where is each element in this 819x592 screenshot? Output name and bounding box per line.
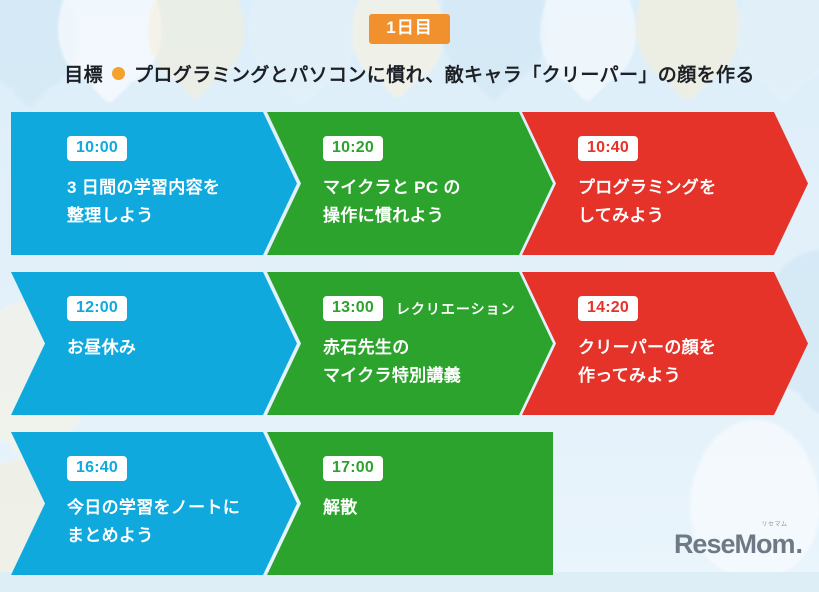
goal-line: 目標 プログラミングとパソコンに慣れ、敵キャラ「クリーパー」の顔を作る (0, 60, 819, 87)
schedule-item-title: 解散 (323, 494, 553, 522)
schedule-item-title: 3 日間の学習内容を 整理しよう (67, 174, 297, 229)
schedule-item-1040[interactable]: 10:40プログラミングを してみよう (522, 112, 808, 255)
schedule-item-time-row: 10:00 (67, 136, 297, 161)
schedule-item-time: 10:20 (323, 136, 383, 161)
goal-text: プログラミングとパソコンに慣れ、敵キャラ「クリーパー」の顔を作る (134, 60, 755, 87)
schedule-item-time: 13:00 (323, 296, 383, 321)
schedule-item-1700[interactable]: 17:00解散 (267, 432, 553, 575)
schedule-item-1420[interactable]: 14:20クリーパーの顔を 作ってみよう (522, 272, 808, 415)
header: 1日目 目標 プログラミングとパソコンに慣れ、敵キャラ「クリーパー」の顔を作る (0, 0, 819, 87)
schedule-item-title: 赤石先生の マイクラ特別講義 (323, 334, 553, 389)
orange-dot-icon (112, 67, 125, 80)
schedule-item-time: 17:00 (323, 456, 383, 481)
schedule-item-time-row: 17:00 (323, 456, 553, 481)
schedule-timeline: 10:003 日間の学習内容を 整理しよう10:20マイクラと PC の 操作に… (11, 112, 808, 592)
schedule-item-1200[interactable]: 12:00お昼休み (11, 272, 297, 415)
schedule-item-time: 12:00 (67, 296, 127, 321)
schedule-item-time-row: 14:20 (578, 296, 808, 321)
schedule-item-time-row: 16:40 (67, 456, 297, 481)
logo-period: . (795, 531, 803, 558)
schedule-item-time-row: 13:00レクリエーション (323, 296, 553, 321)
schedule-item-title: マイクラと PC の 操作に慣れよう (323, 174, 553, 229)
schedule-item-time: 10:00 (67, 136, 127, 161)
schedule-item-time: 16:40 (67, 456, 127, 481)
schedule-item-title: プログラミングを してみよう (578, 174, 808, 229)
goal-label: 目標 (64, 60, 103, 87)
schedule-row: 12:00お昼休み13:00レクリエーション赤石先生の マイクラ特別講義14:2… (11, 272, 808, 415)
schedule-item-1640[interactable]: 16:40今日の学習をノートに まとめよう (11, 432, 297, 575)
schedule-item-title: 今日の学習をノートに まとめよう (67, 494, 297, 549)
schedule-row: 10:003 日間の学習内容を 整理しよう10:20マイクラと PC の 操作に… (11, 112, 808, 255)
schedule-item-time-row: 10:40 (578, 136, 808, 161)
day-badge: 1日目 (369, 14, 449, 44)
resemom-logo: リセマム ReseMom . (674, 531, 803, 558)
schedule-item-time-row: 10:20 (323, 136, 553, 161)
schedule-item-tag: レクリエーション (396, 299, 516, 319)
schedule-item-time: 10:40 (578, 136, 638, 161)
logo-main-text: ReseMom (674, 529, 795, 559)
logo-ruby-text: リセマム (761, 522, 787, 528)
schedule-item-1000[interactable]: 10:003 日間の学習内容を 整理しよう (11, 112, 297, 255)
schedule-item-time: 14:20 (578, 296, 638, 321)
schedule-item-title: お昼休み (67, 334, 297, 362)
schedule-item-1300[interactable]: 13:00レクリエーション赤石先生の マイクラ特別講義 (267, 272, 553, 415)
schedule-item-time-row: 12:00 (67, 296, 297, 321)
logo-wordmark: リセマム ReseMom (674, 531, 795, 558)
schedule-item-title: クリーパーの顔を 作ってみよう (578, 334, 808, 389)
schedule-item-1020[interactable]: 10:20マイクラと PC の 操作に慣れよう (267, 112, 553, 255)
